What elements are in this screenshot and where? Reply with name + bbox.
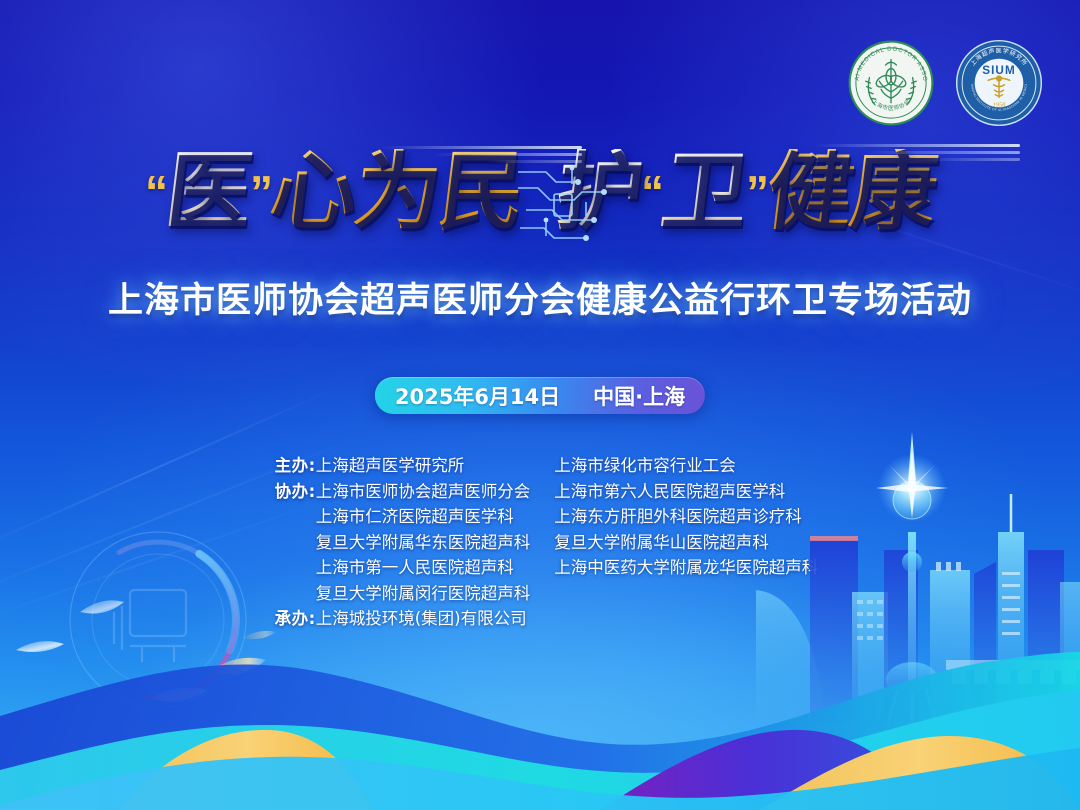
organizer-line: 上海市绿化市容行业工会 [552,452,818,478]
svg-text:SIUM: SIUM [982,64,1016,77]
organizer-value: 上海市仁济医院超声医学科 [316,503,514,527]
title-char-wei-guard: 卫 [657,149,752,235]
organizer-value: 复旦大学附属华东医院超声科 [316,529,531,553]
shanghai-medical-doctor-association-logo: SHANGHAI MEDICAL DOCTOR ASSOCIATION 上海市医… [846,38,936,128]
title-char-yi: 医 [161,149,256,235]
organizer-column-right: 上海市绿化市容行业工会 上海市第六人民医院超声医学科 上海东方肝胆外科医院超声诊… [552,452,818,631]
organizer-line: 复旦大学附属华东医院超声科 [262,529,531,555]
organizer-value: 上海东方肝胆外科医院超声诊疗科 [554,503,802,527]
svg-text:1958: 1958 [993,101,1006,108]
organizer-value: 上海超声医学研究所 [316,452,465,476]
circuit-board-pattern-icon [516,158,608,262]
date-location-badge: 2025年6月14日 中国·上海 [375,377,705,414]
title-char-jian: 健 [762,149,857,235]
organizer-line: 上海市第一人民医院超声科 [262,554,531,580]
organizer-line: 上海东方肝胆外科医院超声诊疗科 [552,503,818,529]
event-location: 中国·上海 [577,381,701,411]
organizer-line: 上海中医药大学附属龙华医院超声科 [552,554,818,580]
organizer-column-left: 主办: 上海超声医学研究所 协办: 上海市医师协会超声医师分会 上海市仁济医院超… [262,452,531,631]
logo-group: SHANGHAI MEDICAL DOCTOR ASSOCIATION 上海市医… [846,38,1044,128]
organizer-line: 复旦大学附属华山医院超声科 [552,529,818,555]
organizer-value: 上海市第六人民医院超声医学科 [554,478,785,502]
title-quote-close-2: ” [746,169,767,215]
organizer-line: 主办: 上海超声医学研究所 [262,452,531,478]
event-date: 2025年6月14日 [379,381,576,411]
subtitle: 上海市医师协会超声医师分会健康公益行环卫专场活动 [0,272,1080,323]
sium-logo: 上海超声医学研究所 SHANGHAI INSTITUTE OF ULTRASOU… [954,38,1044,128]
organizer-value: 上海中医药大学附属龙华医院超声科 [554,554,818,578]
organizer-line: 复旦大学附属闵行医院超声科 [262,580,531,606]
title-char-min: 民 [434,149,529,235]
title-quote-open-1: “ [145,169,166,215]
title-char-xin: 心 [266,149,361,235]
organizer-label: 协办: [262,478,316,502]
title-quote-close-1: ” [250,169,271,215]
organizer-line: 协办: 上海市医师协会超声医师分会 [262,478,531,504]
organizer-value: 上海市绿化市容行业工会 [554,452,736,476]
organizer-value: 复旦大学附属华山医院超声科 [554,529,769,553]
organizer-line: 上海市仁济医院超声医学科 [262,503,531,529]
organizer-line-spacer [552,580,818,606]
title-quote-open-2: “ [641,169,662,215]
organizer-value: 上海市医师协会超声医师分会 [316,478,531,502]
organizer-value: 上海市第一人民医院超声科 [316,554,514,578]
event-poster: SHANGHAI MEDICAL DOCTOR ASSOCIATION 上海市医… [0,0,1080,810]
organizer-line: 上海市第六人民医院超声医学科 [552,478,818,504]
bottom-wave-bands [0,620,1080,810]
organizer-value: 复旦大学附属闵行医院超声科 [316,580,531,604]
title-char-wei-for: 为 [350,149,445,235]
title-char-kang: 康 [846,149,941,235]
organizer-label: 主办: [262,452,316,476]
